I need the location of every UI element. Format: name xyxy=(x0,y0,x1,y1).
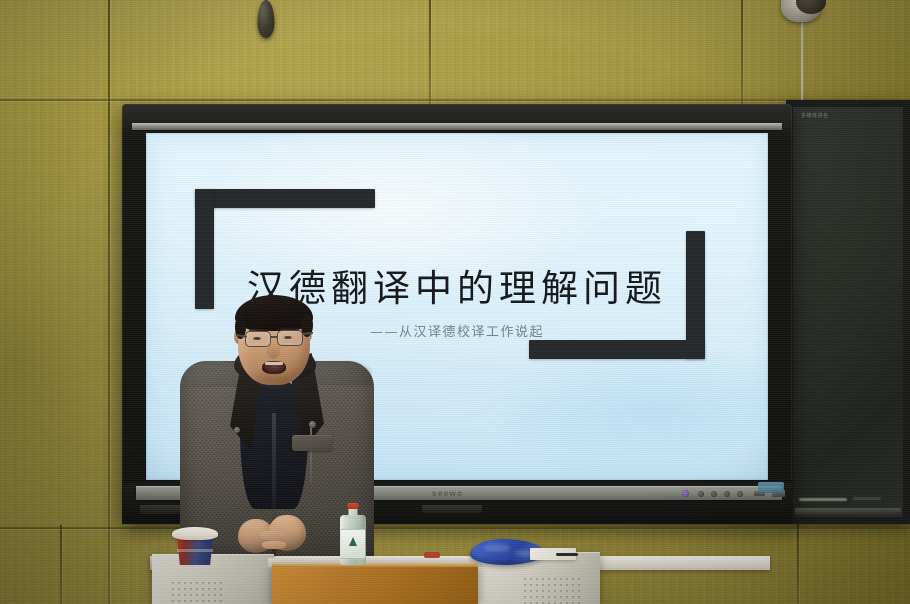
volume-down-button[interactable] xyxy=(724,491,730,497)
menu-button[interactable] xyxy=(698,491,704,497)
chalkboard-label: 多媒体讲台 xyxy=(801,112,829,119)
ceiling-mount-rod xyxy=(801,22,803,110)
jacket-button xyxy=(309,421,316,428)
bracket-arm-horizontal xyxy=(529,340,705,359)
chalk-mark xyxy=(853,497,881,500)
chalkboard-surface xyxy=(793,107,903,517)
pen xyxy=(556,553,578,556)
bottle-body xyxy=(340,515,366,565)
volume-up-button[interactable] xyxy=(737,491,743,497)
desk-marker xyxy=(424,552,440,558)
speaker-grille-perforations xyxy=(170,580,226,604)
chest-pocket-flap xyxy=(292,435,332,451)
cup-band xyxy=(177,549,212,552)
microphone-capsule xyxy=(258,0,275,38)
cloth-fold xyxy=(484,544,510,552)
chalkboard: 多媒体讲台 xyxy=(786,100,910,524)
water-bottle xyxy=(340,503,366,565)
source-button[interactable] xyxy=(711,491,717,497)
chalk-mark xyxy=(799,498,847,501)
bracket-arm-horizontal xyxy=(195,189,375,208)
podium-top-edge xyxy=(272,563,478,567)
side-connector-plate[interactable] xyxy=(758,482,784,493)
nose xyxy=(267,343,280,359)
bottle-logo-icon xyxy=(349,537,357,546)
whiteboard-top-trim xyxy=(132,123,782,130)
speaker-grille-perforations xyxy=(522,576,582,604)
power-indicator-icon[interactable] xyxy=(682,490,689,497)
eyeglasses-lens-right xyxy=(277,330,303,346)
chin-shadow xyxy=(258,373,290,385)
hanging-microphone xyxy=(248,0,284,44)
finger xyxy=(262,541,286,549)
paper-coffee-cup xyxy=(174,527,216,565)
teeth xyxy=(265,362,283,365)
brand-logo: seewo xyxy=(432,489,463,498)
pen-tray-left[interactable] xyxy=(140,505,180,514)
chalk-tray xyxy=(795,508,901,515)
podium xyxy=(272,564,478,604)
pen-tray-center[interactable] xyxy=(422,505,482,513)
lecture-hall-photo: 多媒体讲台 汉德翻译中的理解问题 ——从汉译德校译工作说起 xyxy=(0,0,910,604)
cup-lid xyxy=(172,527,218,540)
jacket-button xyxy=(234,427,240,433)
finger xyxy=(260,531,286,540)
eyeglasses-bridge xyxy=(270,336,278,338)
